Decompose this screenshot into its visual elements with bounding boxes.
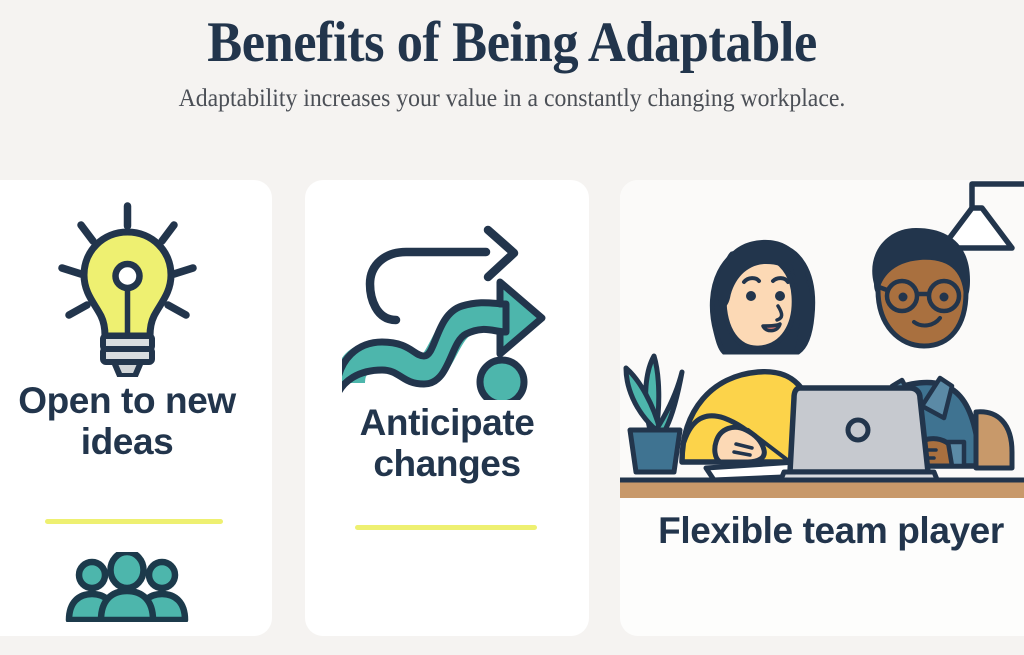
curved-arrows-icon	[305, 210, 589, 400]
card-label-open-to-new-ideas: Open to new ideas	[0, 380, 272, 463]
card-label-anticipate-changes: Anticipate changes	[305, 402, 589, 485]
card-open-to-new-ideas[interactable]: Open to new ideas	[0, 180, 272, 636]
infographic-page: Benefits of Being Adaptable Adaptability…	[0, 0, 1024, 655]
card-divider-1	[45, 519, 223, 524]
lightbulb-icon	[0, 192, 272, 377]
cards-row: Open to new ideas	[0, 180, 1024, 636]
card-divider-2	[355, 525, 537, 530]
card-flexible-team-player[interactable]: Flexible team player	[620, 180, 1024, 636]
card-anticipate-changes[interactable]: Anticipate changes	[305, 180, 589, 636]
two-coworkers-at-desk-illustration	[620, 180, 1024, 498]
page-subtitle: Adaptability increases your value in a c…	[26, 74, 999, 114]
card-label-flexible-team-player: Flexible team player	[620, 510, 1024, 551]
page-title: Benefits of Being Adaptable	[41, 0, 983, 74]
header: Benefits of Being Adaptable Adaptability…	[0, 0, 1024, 114]
people-group-icon	[0, 552, 272, 622]
